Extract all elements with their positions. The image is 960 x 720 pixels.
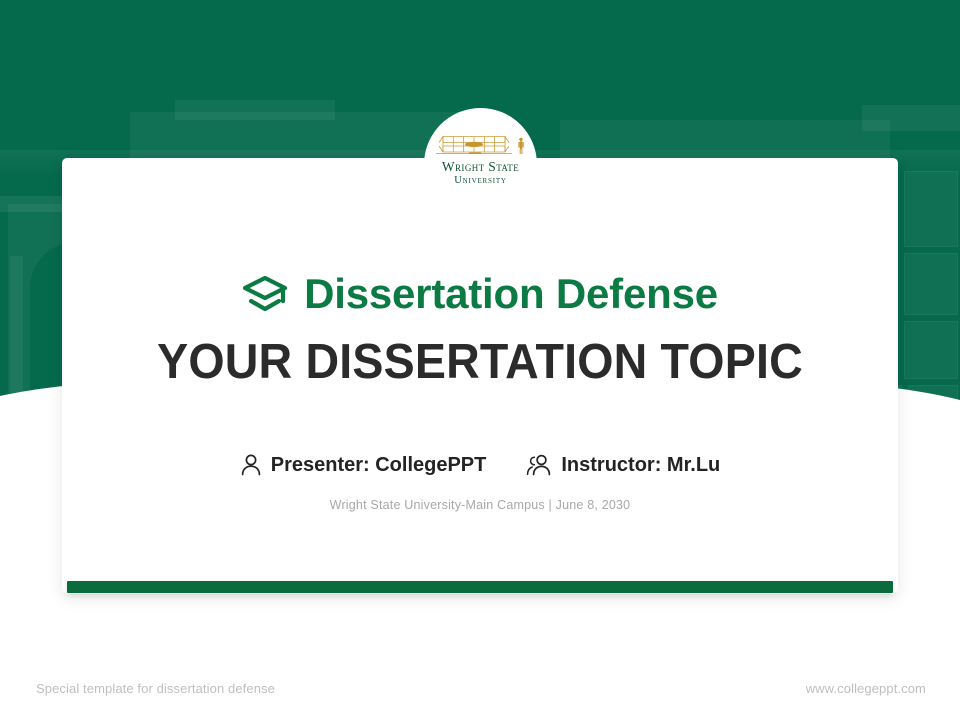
instructor-label: Instructor: Mr.Lu — [561, 454, 720, 477]
archway-column-left — [10, 256, 23, 436]
facade-pane — [904, 171, 958, 247]
people-icon — [526, 453, 552, 477]
footer-right-text: www.collegeppt.com — [806, 681, 926, 696]
wright-flyer-icon — [433, 132, 529, 158]
facade-pane — [908, 385, 958, 437]
instructor-entry: Instructor: Mr.Lu — [526, 453, 720, 477]
people-row: Presenter: CollegePPT Instructor: Mr.Lu — [62, 453, 898, 477]
person-icon — [240, 453, 262, 477]
venue-and-date: Wright State University-Main Campus | Ju… — [62, 498, 898, 512]
title-row: Dissertation Defense — [62, 270, 898, 318]
presenter-label: Presenter: CollegePPT — [271, 454, 487, 477]
background-building-corner-block — [862, 105, 960, 131]
footer-left-text: Special template for dissertation defens… — [36, 681, 275, 696]
facade-pane — [904, 321, 958, 379]
presentation-slide: Wright State University Dissertation Def… — [0, 0, 960, 720]
presenter-entry: Presenter: CollegePPT — [240, 453, 487, 477]
dissertation-topic: YOUR DISSERTATION TOPIC — [83, 334, 877, 390]
slide-title: Dissertation Defense — [304, 270, 718, 318]
card-content: Dissertation Defense YOUR DISSERTATION T… — [62, 158, 898, 594]
facade-pane — [904, 253, 958, 315]
graduation-cap-icon — [242, 274, 288, 314]
